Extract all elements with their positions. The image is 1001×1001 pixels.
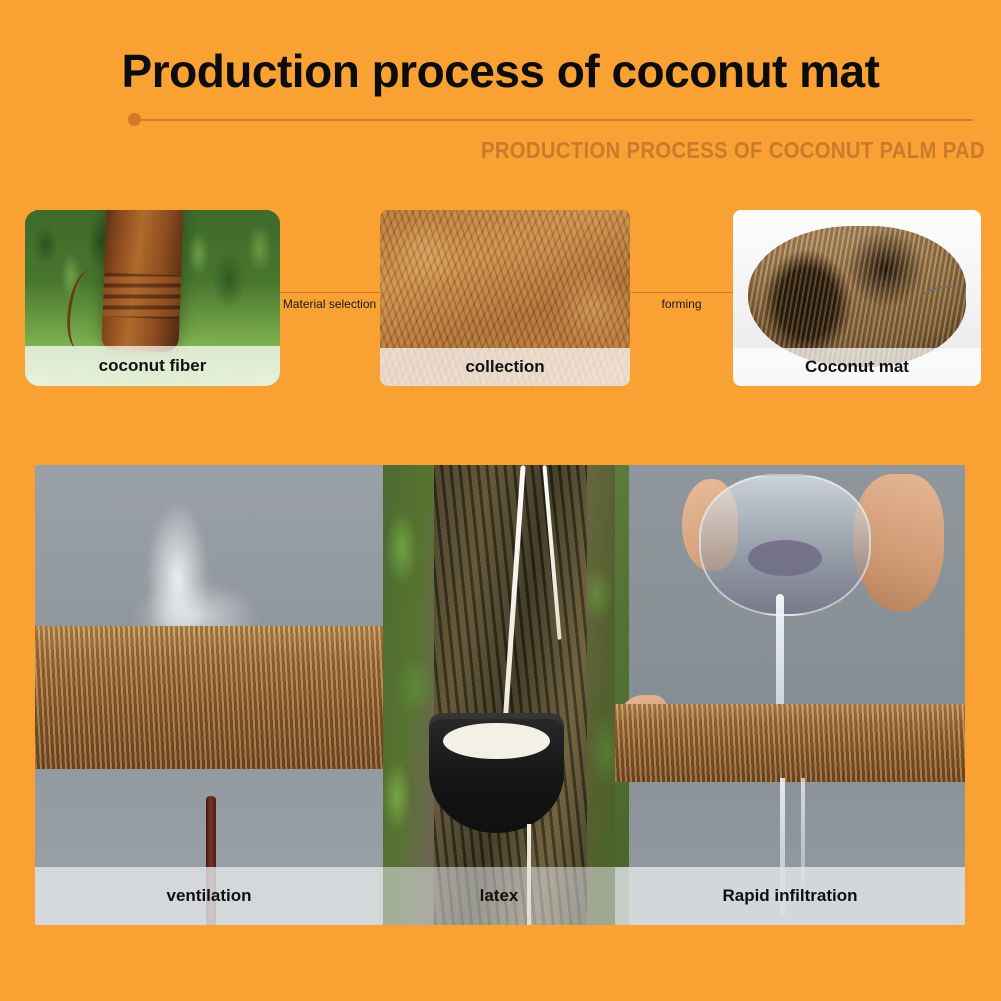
connector-label-1: Material selection <box>279 297 380 311</box>
feature-panel-3: Rapid infiltration <box>615 465 965 925</box>
page-title: Production process of coconut mat <box>0 48 1001 94</box>
header-divider <box>128 113 973 127</box>
connector-line <box>630 292 733 293</box>
process-step-card-3: Coconut mat <box>733 210 981 386</box>
process-top-row: coconut fiber collection Coconut mat <box>0 210 1001 390</box>
feature-caption-1: ventilation <box>35 867 383 925</box>
feature-panel-2: latex <box>383 465 615 925</box>
feature-caption-3: Rapid infiltration <box>615 867 965 925</box>
divider-line <box>134 119 973 121</box>
step-caption-2: collection <box>380 348 630 386</box>
glass-bowl <box>699 474 871 616</box>
process-step-card-1: coconut fiber <box>25 210 280 386</box>
process-connector-2: forming <box>630 292 733 316</box>
process-step-card-2: collection <box>380 210 630 386</box>
tree-bark <box>434 465 587 925</box>
process-connector-1: Material selection <box>279 292 380 316</box>
connector-label-2: forming <box>630 297 733 311</box>
feature-bottom-row: ventilation latex Rapid infiltration <box>35 465 965 925</box>
rubber-tree-tapping-photo <box>383 465 615 925</box>
page-subtitle: PRODUCTION PROCESS OF COCONUT PALM PAD <box>118 137 985 164</box>
coir-mat-slab <box>35 626 383 769</box>
connector-line <box>279 292 380 293</box>
palm-trunk-shape <box>101 210 183 352</box>
step-caption-1: coconut fiber <box>25 346 280 386</box>
background-edge-strip <box>615 465 629 925</box>
step-caption-3: Coconut mat <box>733 348 981 386</box>
smoke-through-coir-mat-photo <box>35 465 383 925</box>
coir-mat-slab <box>615 704 965 782</box>
water-poured-through-mat-photo <box>615 465 965 925</box>
feature-caption-2: latex <box>383 867 615 925</box>
feature-panel-1: ventilation <box>35 465 383 925</box>
latex-pool <box>443 723 550 760</box>
